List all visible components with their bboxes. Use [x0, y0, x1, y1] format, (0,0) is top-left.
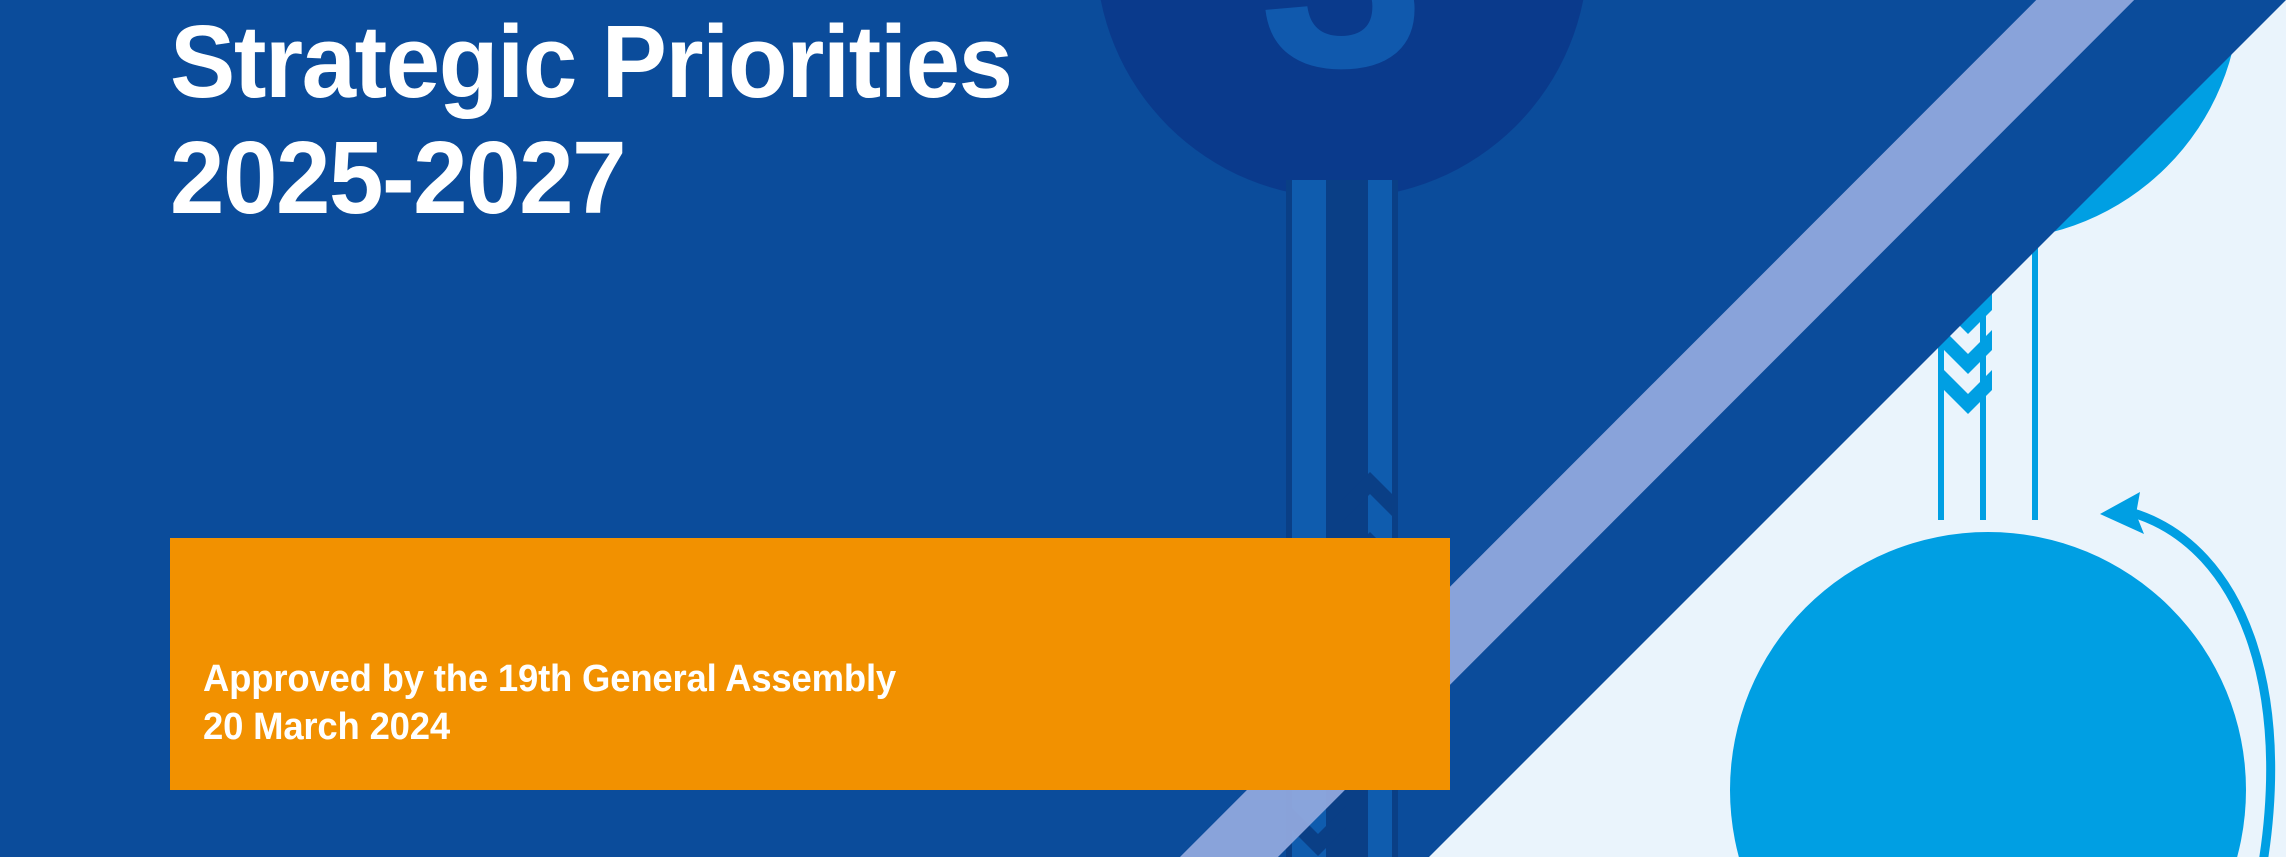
page-title: Strategic Priorities 2025-2027: [170, 4, 1120, 237]
cover-canvas: 3: [0, 0, 2286, 857]
approval-line-2: 20 March 2024: [203, 704, 896, 752]
approval-text: Approved by the 19th General Assembly 20…: [203, 656, 896, 752]
approval-banner: Approved by the 19th General Assembly 20…: [170, 538, 1450, 790]
approval-line-1: Approved by the 19th General Assembly: [203, 656, 896, 704]
svg-text:3: 3: [1259, 0, 1426, 130]
page-title-line-2: 2025-2027: [170, 120, 1120, 236]
page-title-line-1: Strategic Priorities: [170, 4, 1120, 120]
